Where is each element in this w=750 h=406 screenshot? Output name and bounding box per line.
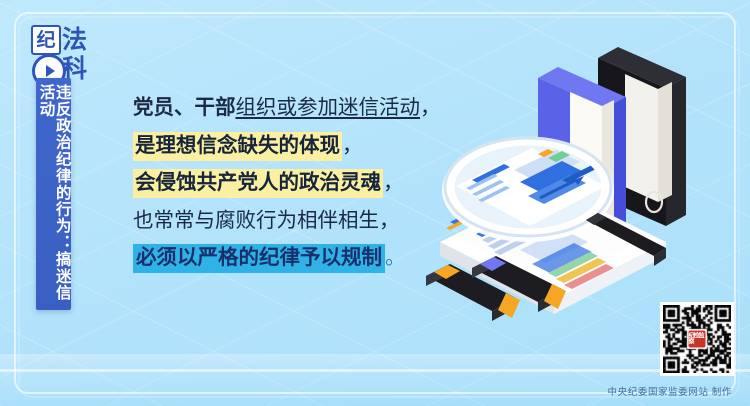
logo-char-ji: 纪 (31, 25, 61, 55)
line5-punct: 。 (385, 247, 406, 269)
line1-underlined-text: 组织或参加迷信活动 (236, 97, 421, 119)
qr-center-stamp: 纪检监察 (689, 331, 706, 348)
body-line-4: 也常常与腐败行为相伴相生， (133, 211, 453, 232)
isometric-illustration (420, 30, 720, 330)
line2-highlighted-text: 是理想信念缺失的体现 (133, 132, 342, 161)
line1-bold-text: 党员、干部 (133, 97, 236, 119)
line2-punct: ， (342, 135, 363, 157)
body-line-3: 会侵蚀共产党人的政治灵魂， (133, 173, 453, 194)
body-line-1: 党员、干部组织或参加迷信活动， (133, 98, 453, 119)
logo-char-fa: 法 (62, 28, 87, 53)
floor-highlight-line (0, 369, 750, 372)
credit-text: 中央纪委国家监委网站 制作 (608, 384, 732, 398)
body-line-5: 必须以严格的纪律予以规制。 (133, 248, 453, 269)
vertical-title-banner: 违反政治纪律的行为：搞迷信活动 (36, 78, 71, 310)
body-copy: 党员、干部组织或参加迷信活动， 是理想信念缺失的体现， 会侵蚀共产党人的政治灵魂… (133, 98, 453, 286)
floor-band (0, 354, 750, 406)
line4-text: 也常常与腐败行为相伴相生， (133, 210, 400, 232)
illustration-svg (420, 30, 720, 330)
line5-highlighted-text: 必须以严格的纪律予以规制 (133, 244, 385, 273)
qr-code[interactable]: 纪检监察 (660, 302, 734, 376)
line3-highlighted-text: 会侵蚀共产党人的政治灵魂 (133, 169, 383, 198)
poster-canvas: 纪 法 科 违反政治纪律的行为：搞迷信活动 党员、干部组织或参加迷信活动， 是理… (0, 0, 750, 406)
vertical-title-text: 违反政治纪律的行为：搞迷信活动 (37, 84, 70, 310)
line3-punct: ， (383, 172, 404, 194)
body-line-2: 是理想信念缺失的体现， (133, 136, 453, 157)
play-triangle-icon (46, 65, 55, 77)
